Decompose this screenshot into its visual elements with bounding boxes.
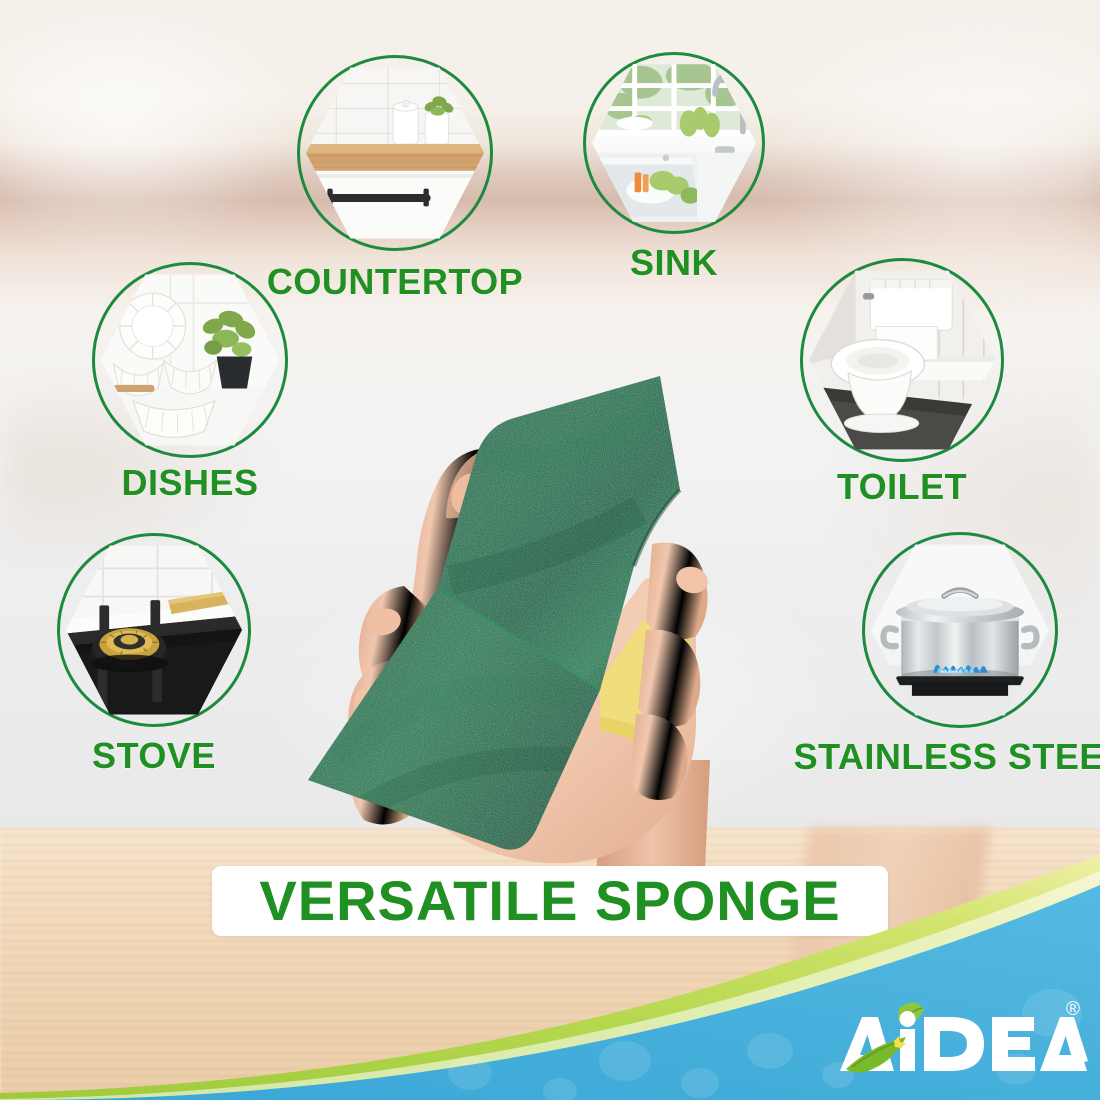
feature-countertop: COUNTERTOP	[297, 55, 493, 251]
feature-dishes: DISHES	[92, 262, 288, 458]
stove-photo	[66, 542, 242, 718]
feature-ring-toilet	[800, 258, 1004, 462]
feature-label-stainless-steel: STAINLESS STEEL	[794, 736, 1100, 778]
feature-ring-countertop	[297, 55, 493, 251]
feature-sink: SINK	[583, 52, 765, 234]
sink-photo	[592, 61, 756, 225]
countertop-photo	[306, 64, 484, 242]
feature-ring-sink	[583, 52, 765, 234]
feature-ring-stainless-steel	[862, 532, 1058, 728]
feature-ring-dishes	[92, 262, 288, 458]
dishes-photo	[101, 271, 279, 449]
feature-label-sink: SINK	[630, 242, 718, 284]
stainless-steel-photo	[871, 541, 1049, 719]
feature-label-countertop: COUNTERTOP	[267, 261, 523, 303]
feature-label-dishes: DISHES	[121, 462, 258, 504]
feature-toilet: TOILET	[800, 258, 1004, 462]
product-marketing-image: COUNTERTOP	[0, 0, 1100, 1100]
feature-stove: STOVE	[57, 533, 251, 727]
feature-stainless-steel: STAINLESS STEEL	[862, 532, 1058, 728]
hand-holding-sponge	[300, 330, 820, 890]
brand-logo: ®	[838, 995, 1088, 1081]
toilet-photo	[809, 267, 995, 453]
feature-label-stove: STOVE	[92, 735, 216, 777]
feature-ring-stove	[57, 533, 251, 727]
feature-label-toilet: TOILET	[837, 466, 967, 508]
trademark-symbol: ®	[1066, 999, 1080, 1020]
